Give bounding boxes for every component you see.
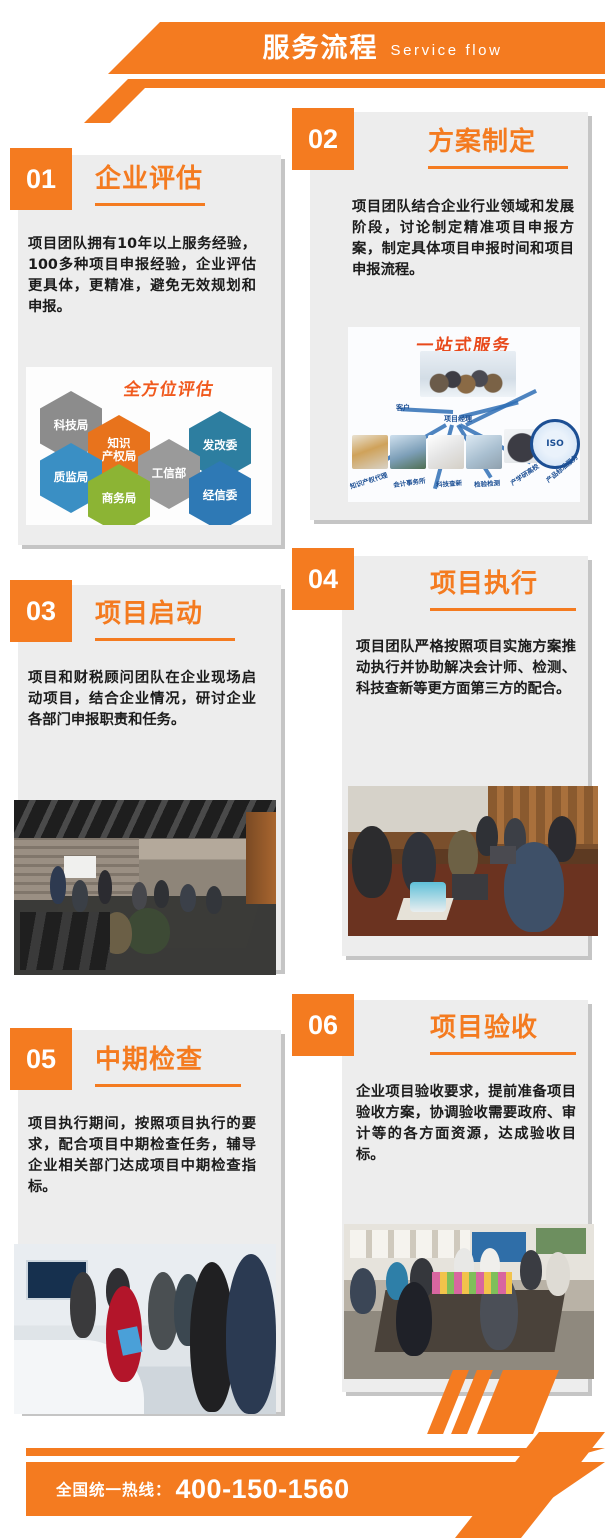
- hex-node-6-label: 经信委: [203, 489, 238, 502]
- card-02-number: 02: [292, 108, 354, 170]
- photo-attendee-6: [546, 1252, 570, 1296]
- photo-visitor-0: [70, 1272, 96, 1338]
- card-06-title: 项目验收: [430, 1014, 538, 1043]
- footer-hotline-number[interactable]: 400-150-1560: [176, 1474, 350, 1505]
- page-footer: 全国统一热线： 400-150-1560: [0, 1432, 605, 1538]
- hex-node-3-label: 质监局: [54, 471, 89, 484]
- photo-person-5: [180, 884, 196, 912]
- service-branch-label-1: 会计事务所: [392, 475, 426, 489]
- service-branch-label-3: 检验检测: [474, 477, 501, 489]
- footer-accent-line: [26, 1448, 605, 1456]
- service-branch-label-4: 产学研高校: [508, 461, 541, 487]
- card-04-media: [348, 786, 598, 936]
- service-node-client: 客户: [396, 403, 410, 413]
- card-01-title-rule: [95, 203, 205, 206]
- photo-attendee-7: [396, 1282, 432, 1356]
- photo-attendee-5: [520, 1250, 542, 1290]
- card-03-media: [14, 800, 276, 975]
- card-02-title: 方案制定: [428, 128, 536, 157]
- photo-person-6: [206, 886, 222, 914]
- service-branch-label-2: 科技查新: [436, 477, 463, 489]
- photo-worker-0: [352, 826, 392, 898]
- photo-flowers: [432, 1272, 512, 1294]
- hex-node-2-label: 发改委: [203, 439, 238, 452]
- card-03-body: 项目和财税顾问团队在企业现场启动项目，结合企业情况，研讨企业各部门申报职责和任务…: [28, 668, 256, 731]
- card-04-number: 04: [292, 548, 354, 610]
- page-title: 服务流程: [262, 35, 378, 62]
- service-branch-photo-3: [466, 435, 502, 469]
- hex-node-0-label: 科技局: [54, 419, 89, 432]
- card-03-title-rule: [95, 638, 235, 641]
- photo-laptop-0: [452, 874, 488, 900]
- photo-laptop-1: [490, 846, 516, 864]
- card-01-media: 全方位评估 科技局 知识产权局 发改委 质监局 工信部 商务局 经信委: [26, 367, 272, 525]
- header-accent-line: [128, 79, 605, 88]
- page-subtitle: Service flow: [390, 38, 502, 58]
- card-06-body: 企业项目验收要求，提前准备项目验收方案，协调验收需要政府、审计等的各方面资源，达…: [356, 1082, 576, 1167]
- photo-back-wall: [348, 786, 488, 832]
- service-flow-infographic: 服务流程 Service flow 01 企业评估 项目团队拥有10年以上服务经…: [0, 0, 605, 1538]
- photo-person-3: [132, 882, 147, 910]
- service-branch-photo-2: [428, 435, 464, 469]
- card-04-title-rule: [430, 608, 576, 611]
- service-branch-photo-0: [352, 435, 388, 469]
- card-06-title-rule: [430, 1052, 576, 1055]
- photo-person-7: [126, 908, 170, 954]
- card-04-body: 项目团队严格按照项目实施方案推动执行并协助解决会计师、检测、科技查新等更方面第三…: [356, 637, 576, 700]
- card-02-media: 一站式服务 客户 项目经理 ISO 知识产权代理 会计事务所 科技查新 检验检测…: [348, 327, 580, 502]
- header-title-group: 服务流程 Service flow: [160, 22, 605, 74]
- photo-certificates: [350, 1230, 470, 1258]
- hex-node-5-label: 商务局: [102, 492, 137, 505]
- photo-person-0: [50, 866, 66, 904]
- photo-person-1: [72, 880, 88, 912]
- card-01-body: 项目团队拥有10年以上服务经验，100多种项目申报经验，企业评估更具体，更精准，…: [28, 234, 256, 319]
- photo-ceiling: [14, 800, 276, 838]
- card-03-number: 03: [10, 580, 72, 642]
- card-05-number: 05: [10, 1028, 72, 1090]
- photo-visitor-5: [226, 1254, 276, 1414]
- footer-hotline-label: 全国统一热线：: [56, 1478, 172, 1500]
- hexagon-chart-title: 全方位评估: [122, 375, 216, 400]
- page-header: 服务流程 Service flow: [0, 22, 605, 102]
- hex-node-1-label: 知识产权局: [102, 437, 137, 463]
- card-05-title-rule: [95, 1084, 241, 1087]
- card-05-media: [14, 1244, 276, 1414]
- card-01-number: 01: [10, 148, 72, 210]
- card-06-media: [344, 1224, 594, 1379]
- photo-equipment: [410, 882, 446, 912]
- photo-chairs: [20, 912, 110, 970]
- card-05-title: 中期检查: [95, 1046, 203, 1075]
- card-06-number: 06: [292, 994, 354, 1056]
- card-01-title: 企业评估: [95, 165, 203, 194]
- card-03-title: 项目启动: [95, 600, 203, 629]
- photo-person-4: [154, 880, 169, 908]
- photo-whiteboard: [64, 856, 96, 878]
- service-branch-photo-1: [390, 435, 426, 469]
- photo-person-2: [98, 870, 112, 904]
- service-node-manager: 项目经理: [444, 414, 472, 424]
- photo-green-board: [536, 1228, 586, 1254]
- hex-node-4-label: 工信部: [152, 467, 187, 480]
- card-05-body: 项目执行期间，按照项目执行的要求，配合项目中期检查任务，辅导企业相关部门达成项目…: [28, 1114, 256, 1199]
- service-branch-label-0: 知识产权代理: [348, 469, 388, 491]
- photo-attendee-0: [350, 1268, 376, 1314]
- card-02-title-rule: [428, 166, 568, 169]
- service-meeting-photo: [420, 351, 516, 397]
- card-02-body: 项目团队结合企业行业领域和发展阶段，讨论制定精准项目申报方案，制定具体项目申报时…: [352, 197, 574, 282]
- photo-wood-panel: [246, 812, 276, 904]
- card-04-title: 项目执行: [430, 570, 538, 599]
- photo-worker-2: [448, 830, 478, 880]
- footer-hotline[interactable]: 全国统一热线： 400-150-1560: [56, 1462, 350, 1516]
